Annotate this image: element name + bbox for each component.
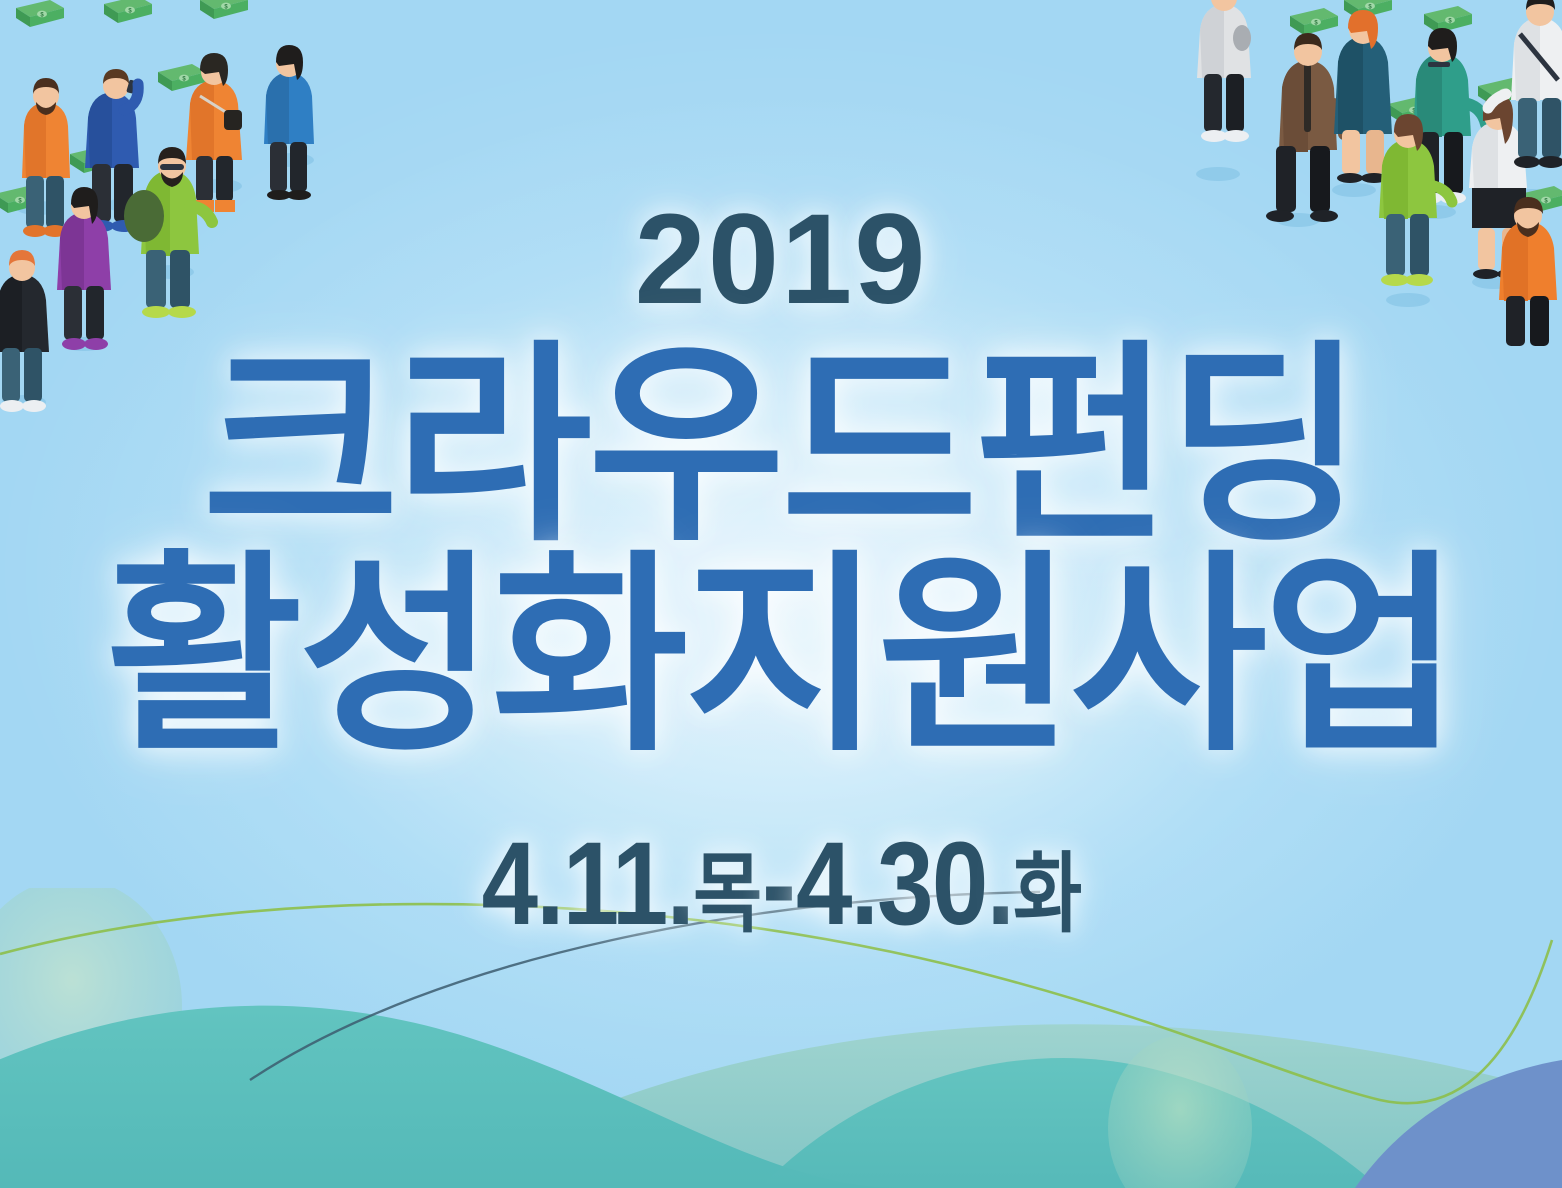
person-blue-top — [264, 45, 314, 200]
date-start-day: 목 — [693, 845, 760, 943]
date-start: 4.11. — [482, 818, 694, 950]
poster-text-block: 2019 크라우드펀딩 활성화지원사업 4.11.목-4.30.화 — [0, 196, 1562, 943]
date-end-day: 화 — [1013, 845, 1080, 943]
poster-title: 크라우드펀딩 활성화지원사업 — [0, 342, 1562, 761]
poster-year: 2019 — [0, 196, 1562, 324]
date-end: 4.30. — [796, 818, 1013, 950]
person-grey-tee — [1197, 0, 1251, 142]
poster-canvas: $ — [0, 0, 1562, 1188]
poster-date-range: 4.11.목-4.30.화 — [109, 825, 1452, 943]
poster-title-line2: 활성화지원사업 — [0, 552, 1562, 762]
person-brown-jacket — [1266, 33, 1344, 222]
person-teal-dress — [1334, 10, 1392, 183]
poster-title-line1: 크라우드펀딩 — [202, 327, 1359, 566]
date-separator: - — [760, 818, 796, 950]
